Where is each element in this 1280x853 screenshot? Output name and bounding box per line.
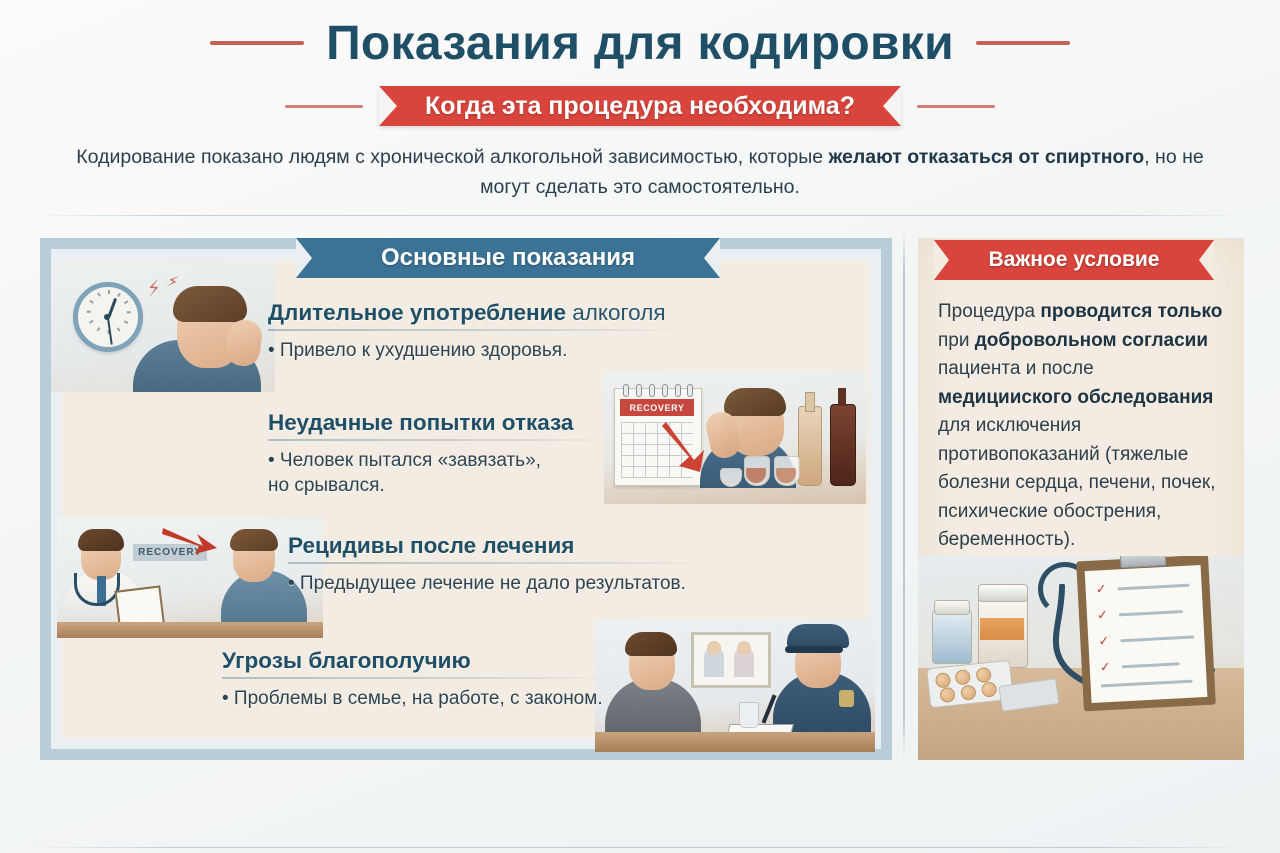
side-panel-run-2: при (938, 330, 975, 351)
pill-jar-large-cap (978, 584, 1028, 602)
side-panel-run-0: Процедура (938, 301, 1040, 322)
police-cap-icon (787, 624, 849, 648)
page-title: Показания для кодировки (326, 16, 954, 71)
clipboard: ✓ ✓ ✓ ✓ (1076, 556, 1216, 711)
indication-item-4: Угрозы благополучию • Проблемы в семье, … (222, 648, 614, 711)
indication-item-1-heading-bold: Длительное употребление (268, 300, 566, 325)
side-panel-run-6: для исключения противопоказаний (тяжелые… (938, 415, 1216, 550)
subtitle-row: Когда эта процедура необходима? (0, 84, 1280, 128)
family-photo-frame (691, 632, 771, 688)
side-panel-run-5: медицииского обследования (938, 387, 1213, 408)
indication-item-3-body: • Предыдущее лечение не дало результатов… (288, 571, 708, 596)
checkmark-2: ✓ (1097, 608, 1109, 622)
man-hair (173, 286, 247, 322)
wall-clock-icon (73, 282, 143, 352)
pill-jar-small-cap (934, 600, 970, 615)
indication-item-1-body: • Привело к ухудшению здоровья. (268, 338, 688, 363)
patient-hair (230, 529, 278, 551)
title-row: Показания для кодировки (0, 12, 1280, 74)
indication-item-3: Рецидивы после лечения • Предыдущее лече… (288, 533, 708, 596)
indication-item-4-body: • Проблемы в семье, на работе, с законом… (222, 686, 614, 711)
anger-mark-2: ⚡ (165, 271, 181, 293)
pills-stethoscope-checklist-illustration: ✓ ✓ ✓ ✓ (918, 556, 1244, 760)
pill-jar-large-label (980, 618, 1024, 640)
intro-text-part1: Кодирование показано людям с хронической… (76, 146, 828, 168)
pill-jar-small (932, 610, 972, 664)
tired-man-with-clock-illustration: ⚡ ⚡ (51, 262, 275, 392)
calendar-recovery-label: RECOVERY (620, 399, 694, 416)
indication-item-4-heading-bold: Угрозы благополучию (222, 648, 471, 673)
indication-item-1: Длительное употребление алкоголя • Приве… (268, 300, 688, 363)
side-panel-run-3: добровольном согласии (975, 330, 1208, 351)
intro-text-bold: желают отказаться от спиртного (828, 146, 1144, 168)
doctor-patient-consult-illustration: RECOVERY (57, 518, 323, 638)
header: Показания для кодировки Когда эта процед… (0, 0, 1280, 212)
bottle-light-neck (805, 392, 815, 412)
subtitle-rule-right (917, 105, 995, 108)
water-glass (739, 702, 759, 728)
indication-item-4-heading: Угрозы благополучию (222, 648, 614, 674)
indication-item-2-heading: Неудачные попытки отказа (268, 410, 618, 436)
indication-item-3-heading-bold: Рецидивы после лечения (288, 533, 574, 558)
recovery-calendar-bottles-illustration: RECOVERY (604, 372, 866, 504)
side-panel-text: Процедура проводится только при добровол… (938, 298, 1230, 555)
man-with-police-officer-illustration (595, 620, 875, 752)
bottle-dark-neck (838, 388, 846, 406)
title-rule-right (976, 41, 1070, 45)
subtitle-rule-left (285, 105, 363, 108)
intro-paragraph: Кодирование показано людям с хронической… (55, 142, 1225, 202)
doctor-hair (78, 529, 124, 551)
man-hair-4 (625, 632, 677, 656)
panel-divider (903, 228, 905, 758)
man-hair-2 (724, 388, 786, 416)
side-panel-run-4: пациента и после (938, 358, 1094, 379)
footer-divider (28, 847, 1252, 848)
infographic-page: Показания для кодировки Когда эта процед… (0, 0, 1280, 853)
header-divider (28, 215, 1252, 216)
subtitle-ribbon: Когда эта процедура необходима? (379, 86, 901, 126)
indication-item-1-underline (268, 329, 688, 331)
indication-item-2-underline (268, 439, 618, 441)
desk-surface (57, 622, 323, 638)
police-badge-icon (839, 690, 854, 707)
checkmark-1: ✓ (1095, 582, 1107, 596)
indication-item-3-heading: Рецидивы после лечения (288, 533, 708, 559)
checkmark-3: ✓ (1098, 634, 1110, 648)
indication-item-1-heading: Длительное употребление алкоголя (268, 300, 688, 326)
side-panel-run-1: проводится только (1040, 301, 1222, 322)
anger-mark-1: ⚡ (145, 275, 164, 302)
indication-item-2-body: • Человек пытался «завязать», но срывалс… (268, 448, 618, 499)
bottle-light (798, 406, 822, 486)
indication-item-4-underline (222, 677, 614, 679)
title-rule-left (210, 41, 304, 45)
main-panel-banner: Основные показания (296, 238, 720, 278)
bottle-dark (830, 404, 856, 486)
indication-item-2: Неудачные попытки отказа • Человек пытал… (268, 410, 618, 499)
table-surface-4 (595, 732, 875, 752)
red-arrow-icon (161, 524, 221, 558)
indication-item-1-heading-light: алкоголя (566, 300, 666, 325)
police-cap-brim (785, 646, 843, 653)
checkmark-4: ✓ (1099, 660, 1111, 674)
indication-item-2-heading-bold: Неудачные попытки отказа (268, 410, 573, 435)
side-panel-banner: Важное условие (934, 240, 1214, 280)
indication-item-3-underline (288, 562, 708, 564)
